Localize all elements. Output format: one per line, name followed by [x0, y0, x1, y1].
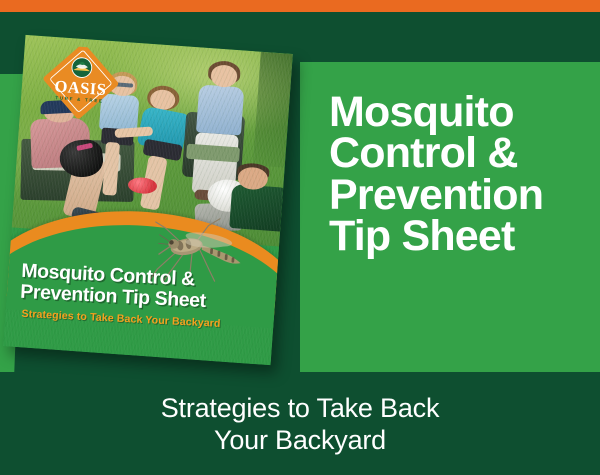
leaning-girl-hair: [146, 84, 180, 111]
leaning-girl-leg: [139, 155, 167, 210]
chair-seat: [186, 144, 240, 162]
booklet-cover: Mosquito Control & Prevention Tip Sheet …: [3, 35, 293, 365]
patio-chair: [182, 111, 245, 180]
seated-man-leg: [62, 154, 107, 221]
leaning-girl-shorts: [142, 139, 182, 162]
headline-line-2: Control &: [329, 133, 591, 174]
standing-girl-shorts: [101, 128, 134, 146]
seated-woman-torso: [196, 84, 245, 136]
garden-bench: [21, 139, 135, 202]
seated-man-torso: [30, 118, 91, 169]
black-dog: [58, 138, 104, 179]
subtitle-caption: Strategies to Take Back Your Backyard: [0, 392, 600, 457]
booklet-cover-mockup: Mosquito Control & Prevention Tip Sheet …: [3, 35, 293, 365]
seated-woman-hair: [207, 60, 241, 85]
seated-woman-head: [210, 64, 238, 87]
leaning-girl-torso: [136, 106, 188, 153]
headline-line-1: Mosquito: [329, 92, 591, 133]
leaning-girl-head: [149, 89, 176, 111]
foreground-man-head: [238, 166, 269, 190]
promo-graphic: Mosquito Control & Prevention Tip Sheet …: [0, 0, 600, 475]
leaning-girl-arm: [115, 127, 153, 139]
seated-woman-pants: [191, 132, 238, 196]
bench-cushion: [32, 152, 121, 172]
headline-line-3: Prevention: [329, 175, 591, 216]
caption-line-2: Your Backyard: [0, 424, 600, 456]
page-title: Mosquito Control & Prevention Tip Sheet: [329, 92, 591, 257]
dog-collar: [76, 143, 93, 151]
oasis-logo: OASIS TURF & TREE: [33, 44, 129, 122]
foreground-man-hair: [237, 162, 270, 178]
seated-woman-shoe: [194, 189, 219, 201]
standing-girl-leg: [103, 142, 120, 196]
headline-line-4: Tip Sheet: [329, 216, 591, 257]
top-accent-bar: [0, 0, 600, 12]
caption-line-1: Strategies to Take Back: [0, 392, 600, 424]
red-ball: [127, 176, 158, 194]
